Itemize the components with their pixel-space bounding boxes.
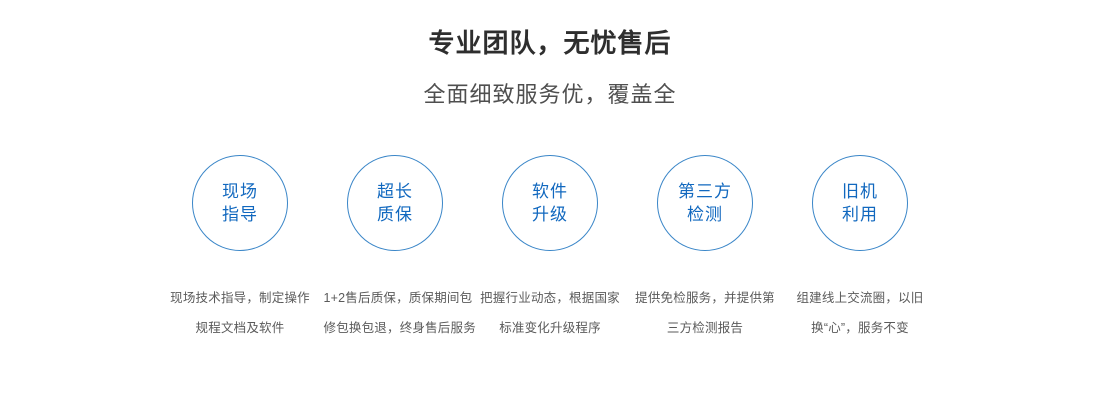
page-subtitle: 全面细致服务优，覆盖全 (0, 80, 1100, 110)
feature-description-line1: 1+2售后质保，质保期间包 (324, 283, 467, 313)
service-promise-section: 专业团队，无忧售后 全面细致服务优，覆盖全 现场 指导 超长 质保 软件 升级 … (0, 0, 1100, 404)
feature-circle-label-line1: 软件 (532, 180, 568, 203)
feature-circle-label-line2: 质保 (377, 203, 413, 226)
feature-description-line2: 三方检测报告 (634, 313, 777, 343)
feature-circle-label-line2: 检测 (687, 203, 723, 226)
feature-description-line2: 标准变化升级程序 (479, 313, 622, 343)
feature-item-extended-warranty[interactable]: 超长 质保 (345, 155, 445, 251)
feature-description-line1: 提供免检服务，并提供第 (634, 283, 777, 313)
feature-circle-onsite-guidance[interactable]: 现场 指导 (192, 155, 288, 251)
feature-circle-label-line2: 指导 (222, 203, 258, 226)
feature-description-line1: 把握行业动态，根据国家 (479, 283, 622, 313)
feature-item-software-upgrade[interactable]: 软件 升级 (500, 155, 600, 251)
feature-description-line1: 现场技术指导，制定操作 (169, 283, 312, 313)
feature-circle-third-party-inspection[interactable]: 第三方 检测 (657, 155, 753, 251)
feature-description-onsite-guidance: 现场技术指导，制定操作 规程文档及软件 (169, 283, 312, 343)
feature-item-onsite-guidance[interactable]: 现场 指导 (190, 155, 290, 251)
feature-description-line2: 规程文档及软件 (169, 313, 312, 343)
feature-circle-label-line1: 超长 (377, 180, 413, 203)
feature-circle-label-line1: 现场 (222, 180, 258, 203)
feature-description-old-machine-reuse: 组建线上交流圈，以旧 换“心”，服务不变 (789, 283, 932, 343)
feature-descriptions-row: 现场技术指导，制定操作 规程文档及软件 1+2售后质保，质保期间包 修包换包退，… (0, 283, 1100, 343)
feature-description-third-party-inspection: 提供免检服务，并提供第 三方检测报告 (634, 283, 777, 343)
page-title: 专业团队，无忧售后 (0, 26, 1100, 60)
feature-circle-label-line1: 第三方 (678, 180, 732, 203)
feature-circle-software-upgrade[interactable]: 软件 升级 (502, 155, 598, 251)
heading-block: 专业团队，无忧售后 全面细致服务优，覆盖全 (0, 0, 1100, 110)
feature-item-old-machine-reuse[interactable]: 旧机 利用 (810, 155, 910, 251)
feature-circle-label-line2: 利用 (842, 203, 878, 226)
feature-description-extended-warranty: 1+2售后质保，质保期间包 修包换包退，终身售后服务 (324, 283, 467, 343)
feature-description-line2: 换“心”，服务不变 (789, 313, 932, 343)
feature-circle-label-line1: 旧机 (842, 180, 878, 203)
feature-description-line2: 修包换包退，终身售后服务 (324, 313, 467, 343)
feature-circle-label-line2: 升级 (532, 203, 568, 226)
feature-circle-extended-warranty[interactable]: 超长 质保 (347, 155, 443, 251)
feature-item-third-party-inspection[interactable]: 第三方 检测 (655, 155, 755, 251)
feature-description-line1: 组建线上交流圈，以旧 (789, 283, 932, 313)
feature-circles-row: 现场 指导 超长 质保 软件 升级 第三方 检测 旧机 (0, 155, 1100, 251)
feature-circle-old-machine-reuse[interactable]: 旧机 利用 (812, 155, 908, 251)
feature-description-software-upgrade: 把握行业动态，根据国家 标准变化升级程序 (479, 283, 622, 343)
